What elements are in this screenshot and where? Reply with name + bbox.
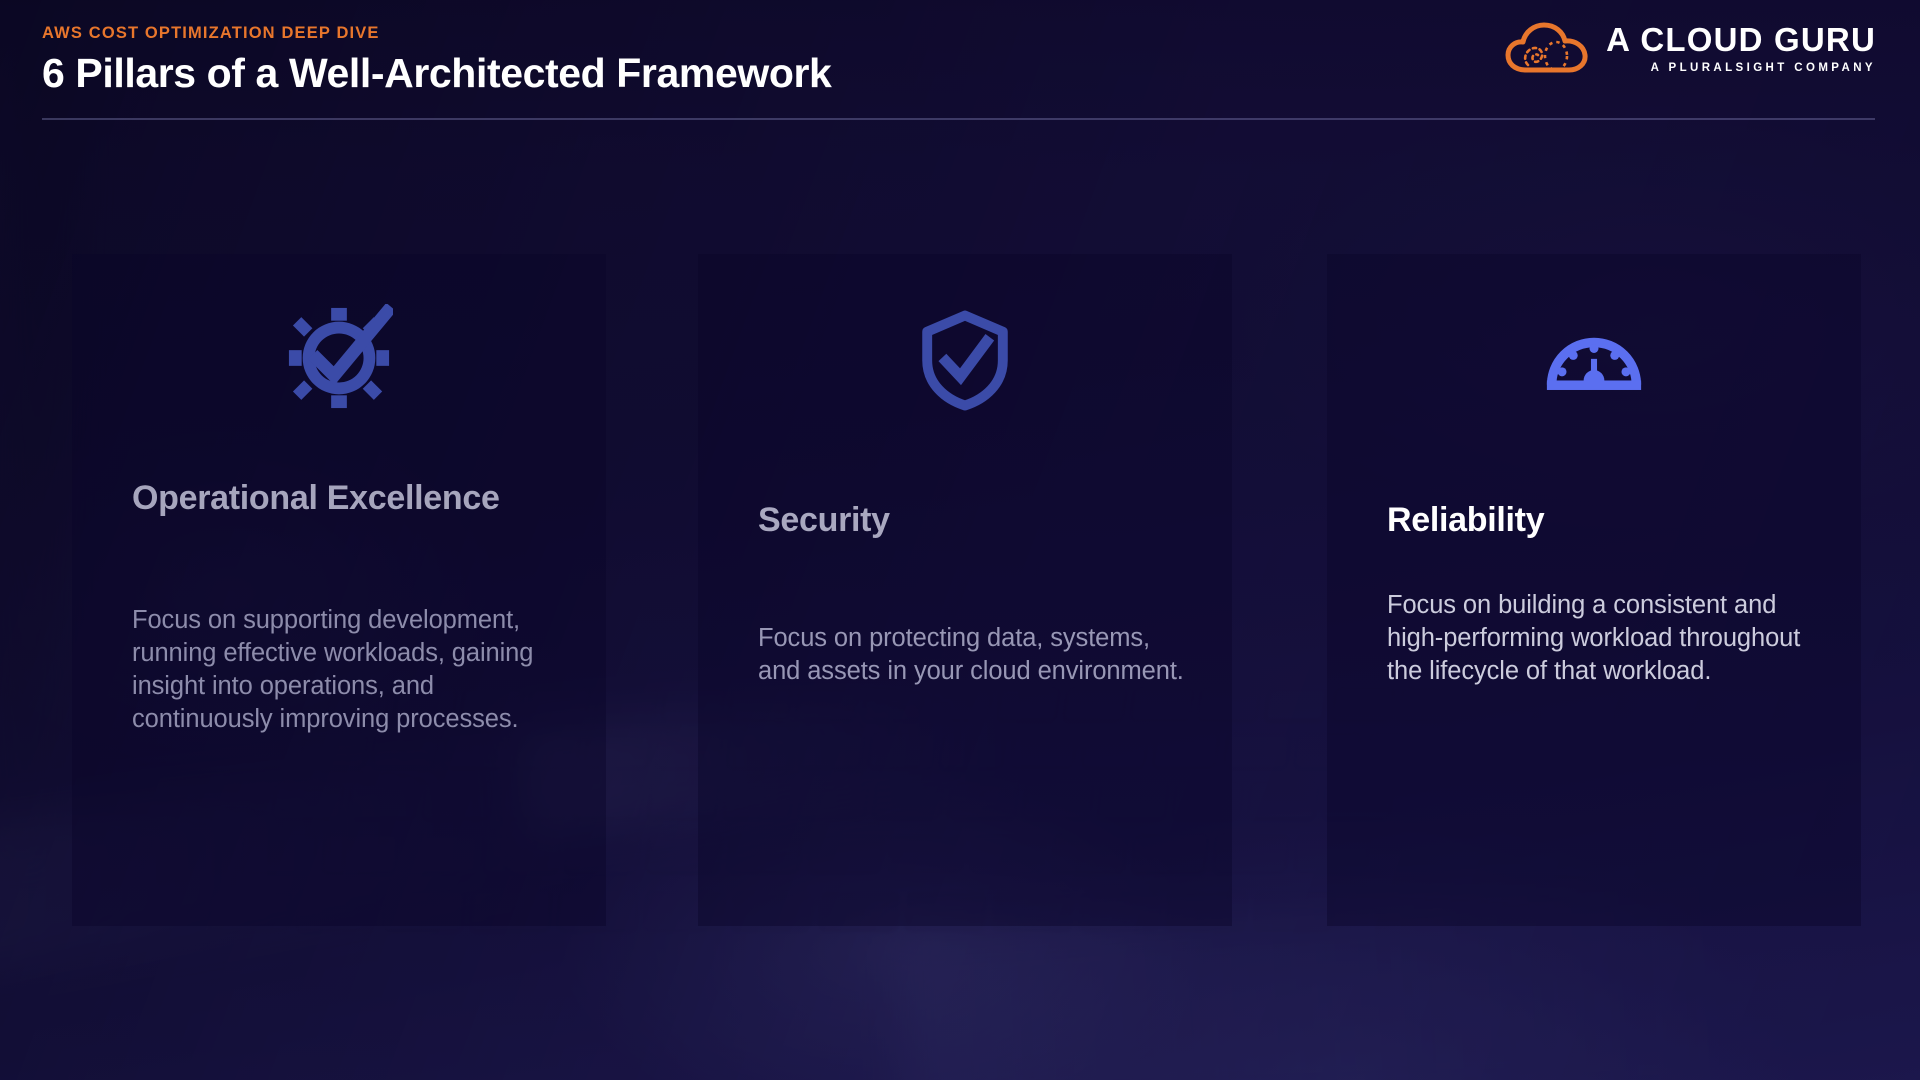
pillar-card-reliability[interactable]: Reliability Focus on building a consiste… [1327,254,1861,926]
pillar-description: Focus on building a consistent and high-… [1387,589,1819,688]
pillar-card-grid: Operational Excellence Focus on supporti… [0,0,1920,1080]
gear-check-icon [285,304,393,417]
pillar-title: Operational Excellence [132,478,558,518]
gauge-icon [1543,324,1645,397]
pillar-card-security[interactable]: Security Focus on protecting data, syste… [698,254,1232,926]
pillar-title: Security [758,500,1184,540]
shield-check-icon [920,310,1010,416]
pillar-card-operational-excellence[interactable]: Operational Excellence Focus on supporti… [72,254,606,926]
slide: AWS COST OPTIMIZATION DEEP DIVE 6 Pillar… [0,0,1920,1080]
pillar-description: Focus on protecting data, systems, and a… [758,622,1190,688]
pillar-title: Reliability [1387,500,1813,540]
pillar-description: Focus on supporting development, running… [132,604,564,736]
